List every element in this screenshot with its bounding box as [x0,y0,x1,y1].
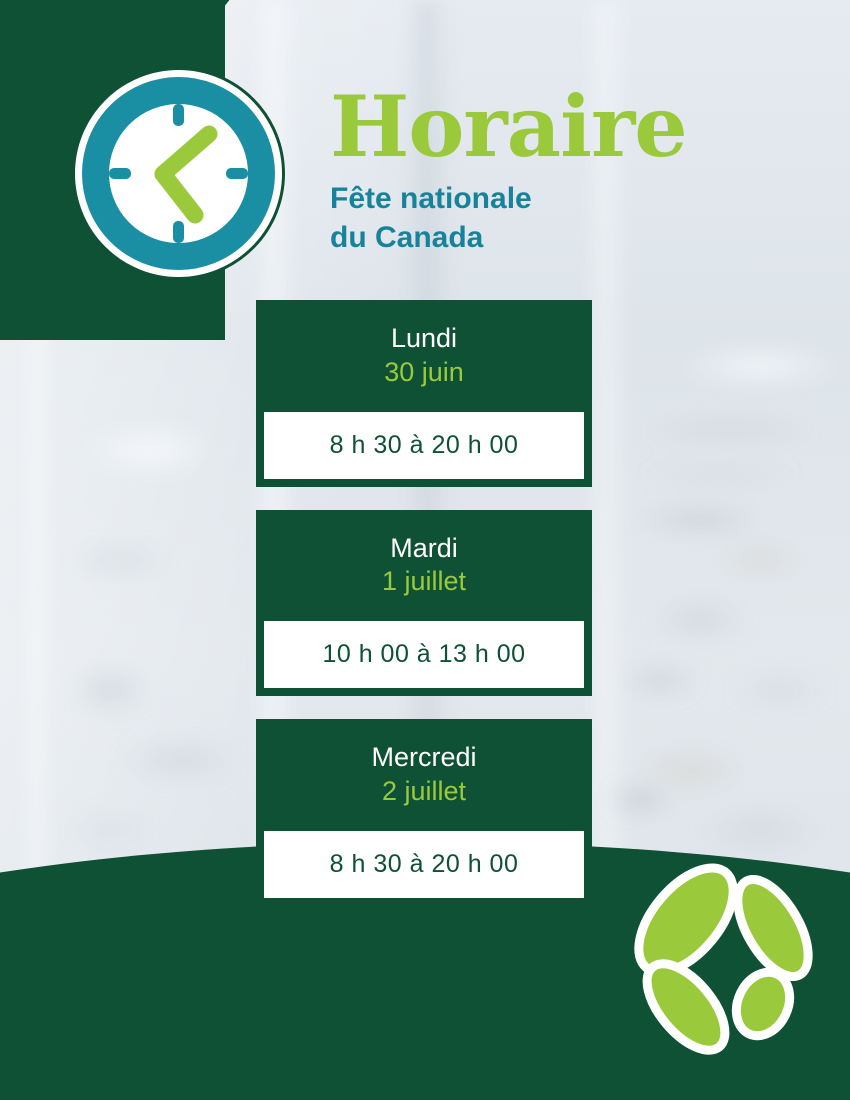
day-card-header: Mercredi 2 juillet [256,719,592,829]
day-date: 2 juillet [266,775,582,809]
schedule-list: Lundi 30 juin 8 h 30 à 20 h 00 Mardi 1 j… [256,300,592,906]
butterfly-logo-icon [618,862,834,1062]
day-card-body: 8 h 30 à 20 h 00 [256,410,592,487]
day-date: 30 juin [266,356,582,390]
day-card-header: Lundi 30 juin [256,300,592,410]
day-hours: 8 h 30 à 20 h 00 [262,829,586,900]
day-card-body: 8 h 30 à 20 h 00 [256,829,592,906]
day-card-lundi: Lundi 30 juin 8 h 30 à 20 h 00 [256,300,592,487]
day-name: Mercredi [266,741,582,775]
day-hours: 10 h 00 à 13 h 00 [262,619,586,690]
day-card-mercredi: Mercredi 2 juillet 8 h 30 à 20 h 00 [256,719,592,906]
clock-icon [71,66,286,281]
day-date: 1 juillet [266,565,582,599]
page-title: Horaire [330,88,760,165]
day-card-body: 10 h 00 à 13 h 00 [256,619,592,696]
day-name: Lundi [266,322,582,356]
day-card-mardi: Mardi 1 juillet 10 h 00 à 13 h 00 [256,510,592,697]
day-card-header: Mardi 1 juillet [256,510,592,620]
page-subtitle: Fête nationale du Canada [330,179,760,257]
poster-header: Horaire Fête nationale du Canada [330,88,760,257]
day-hours: 8 h 30 à 20 h 00 [262,410,586,481]
day-name: Mardi [266,532,582,566]
schedule-poster: Horaire Fête nationale du Canada Lundi 3… [0,0,850,1100]
